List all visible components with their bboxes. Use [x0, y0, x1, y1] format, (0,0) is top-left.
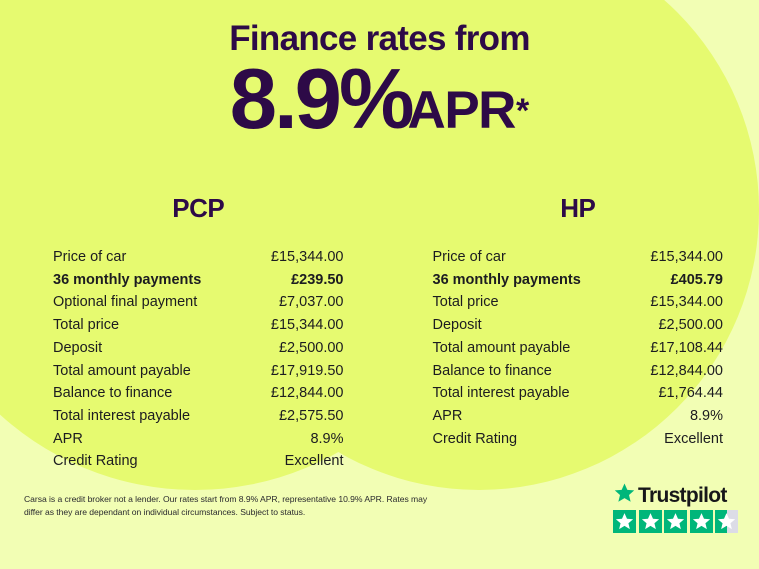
row-value: £1,764.44	[658, 382, 723, 405]
table-row: Total price£15,344.00	[53, 314, 344, 337]
row-value: £12,844.00	[271, 382, 344, 405]
table-row: Balance to finance£12,844.00	[433, 360, 724, 383]
row-label: APR	[433, 405, 463, 428]
table-row: Total amount payable£17,108.44	[433, 337, 724, 360]
trustpilot-star-rating	[613, 510, 741, 533]
row-label: Total price	[433, 291, 499, 314]
row-label: Total price	[53, 314, 119, 337]
table-row: Price of car£15,344.00	[53, 246, 344, 269]
table-row: 36 monthly payments£239.50	[53, 269, 344, 292]
table-row: Deposit£2,500.00	[433, 314, 724, 337]
table-row: Total interest payable£1,764.44	[433, 382, 724, 405]
row-value: Excellent	[285, 450, 344, 473]
trustpilot-wordmark-text: Trustpilot	[638, 485, 727, 506]
row-label: 36 monthly payments	[433, 269, 581, 292]
row-value: £239.50	[291, 269, 343, 292]
header: Finance rates from 8.9%APR*	[0, 0, 759, 142]
row-label: Price of car	[433, 246, 506, 269]
row-value: £2,500.00	[279, 337, 344, 360]
table-row: Price of car£15,344.00	[433, 246, 724, 269]
row-value: £15,344.00	[271, 314, 344, 337]
row-value: £2,575.50	[279, 405, 344, 428]
rate-asterisk: *	[516, 92, 529, 130]
star-icon	[613, 482, 636, 509]
row-label: Optional final payment	[53, 291, 197, 314]
plan-pcp-title: PCP	[53, 193, 344, 224]
row-value: 8.9%	[690, 405, 723, 428]
footer: Carsa is a credit broker not a lender. O…	[0, 477, 759, 569]
row-label: Credit Rating	[53, 450, 138, 473]
star-icon	[639, 510, 662, 533]
headline-rate: 8.9%APR*	[0, 57, 759, 142]
rate-value: 8.9%	[230, 52, 412, 147]
row-label: Balance to finance	[433, 360, 552, 383]
row-label: Total interest payable	[53, 405, 190, 428]
plan-pcp-rows: Price of car£15,344.0036 monthly payment…	[53, 246, 344, 473]
row-label: Total amount payable	[433, 337, 571, 360]
disclaimer-text: Carsa is a credit broker not a lender. O…	[24, 493, 444, 519]
trustpilot-logo: Trustpilot	[613, 483, 741, 507]
row-label: Total interest payable	[433, 382, 570, 405]
row-label: Price of car	[53, 246, 126, 269]
row-value: £15,344.00	[650, 246, 723, 269]
table-row: 36 monthly payments£405.79	[433, 269, 724, 292]
row-label: Deposit	[433, 314, 482, 337]
table-row: Total interest payable£2,575.50	[53, 405, 344, 428]
row-label: Credit Rating	[433, 428, 518, 451]
plan-pcp: PCP Price of car£15,344.0036 monthly pay…	[0, 193, 380, 473]
table-row: Deposit£2,500.00	[53, 337, 344, 360]
row-label: APR	[53, 428, 83, 451]
table-row: Credit RatingExcellent	[53, 450, 344, 473]
table-row: Optional final payment£7,037.00	[53, 291, 344, 314]
trustpilot-rating: Trustpilot	[613, 483, 741, 533]
row-label: 36 monthly payments	[53, 269, 201, 292]
row-value: Excellent	[664, 428, 723, 451]
row-value: £15,344.00	[650, 291, 723, 314]
plan-hp-rows: Price of car£15,344.0036 monthly payment…	[433, 246, 724, 450]
plan-hp-title: HP	[433, 193, 724, 224]
row-value: £17,919.50	[271, 360, 344, 383]
table-row: Total price£15,344.00	[433, 291, 724, 314]
table-row: Total amount payable£17,919.50	[53, 360, 344, 383]
table-row: APR8.9%	[433, 405, 724, 428]
star-half-icon	[715, 510, 738, 533]
row-value: £17,108.44	[650, 337, 723, 360]
row-value: £15,344.00	[271, 246, 344, 269]
row-value: £7,037.00	[279, 291, 344, 314]
row-label: Total amount payable	[53, 360, 191, 383]
table-row: APR8.9%	[53, 428, 344, 451]
row-label: Deposit	[53, 337, 102, 360]
star-icon	[664, 510, 687, 533]
rate-unit: APR	[408, 81, 515, 140]
table-row: Credit RatingExcellent	[433, 428, 724, 451]
row-label: Balance to finance	[53, 382, 172, 405]
star-icon	[690, 510, 713, 533]
star-icon	[613, 510, 636, 533]
plan-hp: HP Price of car£15,344.0036 monthly paym…	[380, 193, 759, 473]
row-value: £2,500.00	[658, 314, 723, 337]
row-value: 8.9%	[310, 428, 343, 451]
row-value: £12,844.00	[650, 360, 723, 383]
finance-rates-poster: Finance rates from 8.9%APR* PCP Price of…	[0, 0, 759, 569]
finance-tables: PCP Price of car£15,344.0036 monthly pay…	[0, 193, 759, 473]
table-row: Balance to finance£12,844.00	[53, 382, 344, 405]
row-value: £405.79	[671, 269, 723, 292]
